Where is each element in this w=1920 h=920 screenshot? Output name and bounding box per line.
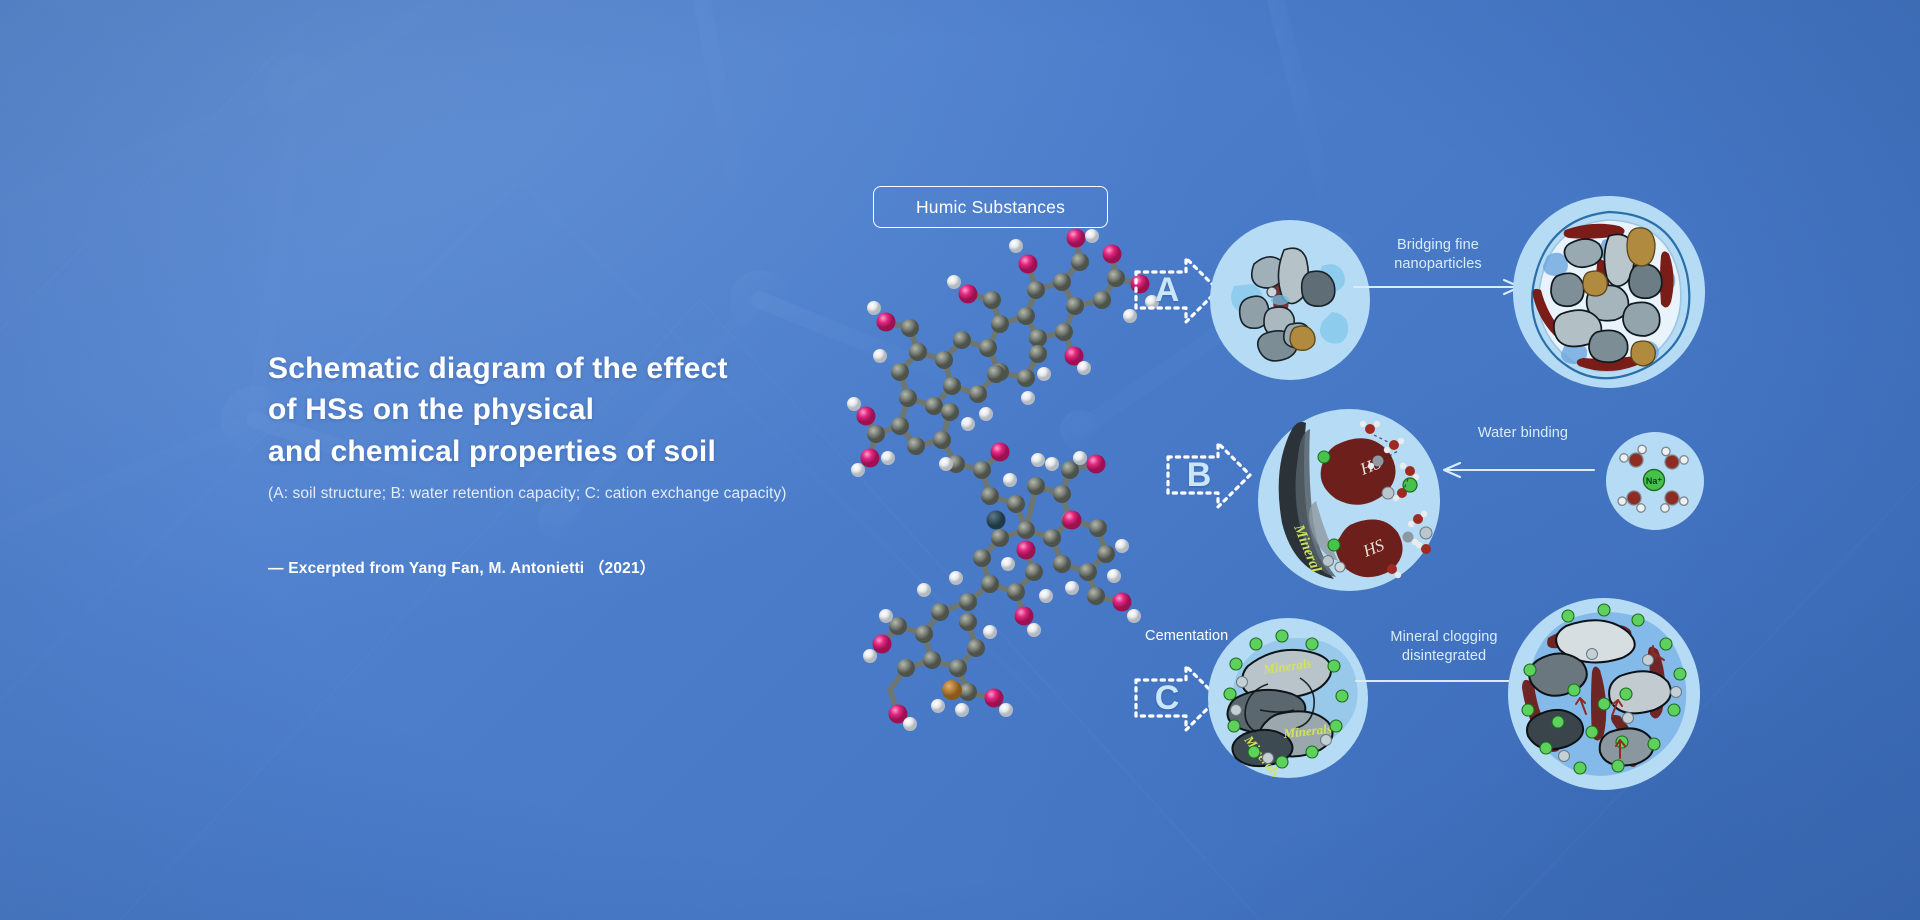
hydrated-cation-illustration: Na⁺ — [1606, 432, 1704, 530]
page-title: Schematic diagram of the effect of HSs o… — [268, 348, 888, 472]
disintegrated-mineral-illustration — [1508, 598, 1700, 790]
source-attribution: — Excerpted from Yang Fan, M. Antonietti… — [268, 556, 888, 578]
row-c-flow-label-line2: disintegrated — [1354, 647, 1534, 666]
row-b-arrow-letter: B — [1160, 437, 1256, 513]
circle-bridged-soil-aggregate — [1513, 196, 1705, 388]
subtitle-legend: (A: soil structure; B: water retention c… — [268, 485, 888, 503]
row-a-flow-label-line2: nanoparticles — [1358, 255, 1518, 274]
circle-loose-soil-aggregate — [1210, 220, 1370, 380]
title-line-3: and chemical properties of soil — [268, 431, 888, 472]
row-b-flow-arrow-left-icon — [1440, 461, 1596, 479]
cation-label: Na⁺ — [1646, 476, 1663, 486]
row-b-flow-label-line1: Water binding — [1443, 424, 1603, 443]
circle-hs-mineral-water-complex: HS HS Mineral — [1258, 409, 1440, 591]
title-line-1: Schematic diagram of the effect — [268, 348, 888, 389]
row-a-flow-label-line1: Bridging fine — [1358, 236, 1518, 255]
row-a-flow-label: Bridging fine nanoparticles — [1358, 236, 1518, 274]
circle-hydrated-cation: Na⁺ — [1606, 432, 1704, 530]
row-c-flow-label: Mineral clogging disintegrated — [1354, 628, 1534, 666]
humic-acid-molecule-model — [840, 220, 1160, 740]
cemented-mineral-illustration: Minerals Minerals Minerals — [1208, 618, 1368, 778]
loose-aggregate-illustration — [1210, 220, 1370, 380]
poster-canvas: Schematic diagram of the effect of HSs o… — [0, 0, 1920, 920]
row-a-flow-arrow-right-icon — [1352, 278, 1528, 296]
row-c-flow-label-line1: Mineral clogging — [1354, 628, 1534, 647]
left-text-block: Schematic diagram of the effect of HSs o… — [268, 348, 888, 578]
circle-cemented-mineral-aggregate: Minerals Minerals Minerals — [1208, 618, 1368, 778]
row-b-flow-label: Water binding — [1443, 424, 1603, 443]
bridged-aggregate-illustration — [1513, 196, 1705, 388]
row-b-letter: B — [1160, 437, 1256, 513]
hs-mineral-water-illustration: HS HS Mineral — [1258, 409, 1440, 591]
circle-disintegrated-mineral-aggregate — [1508, 598, 1700, 790]
title-line-2: of HSs on the physical — [268, 389, 888, 430]
